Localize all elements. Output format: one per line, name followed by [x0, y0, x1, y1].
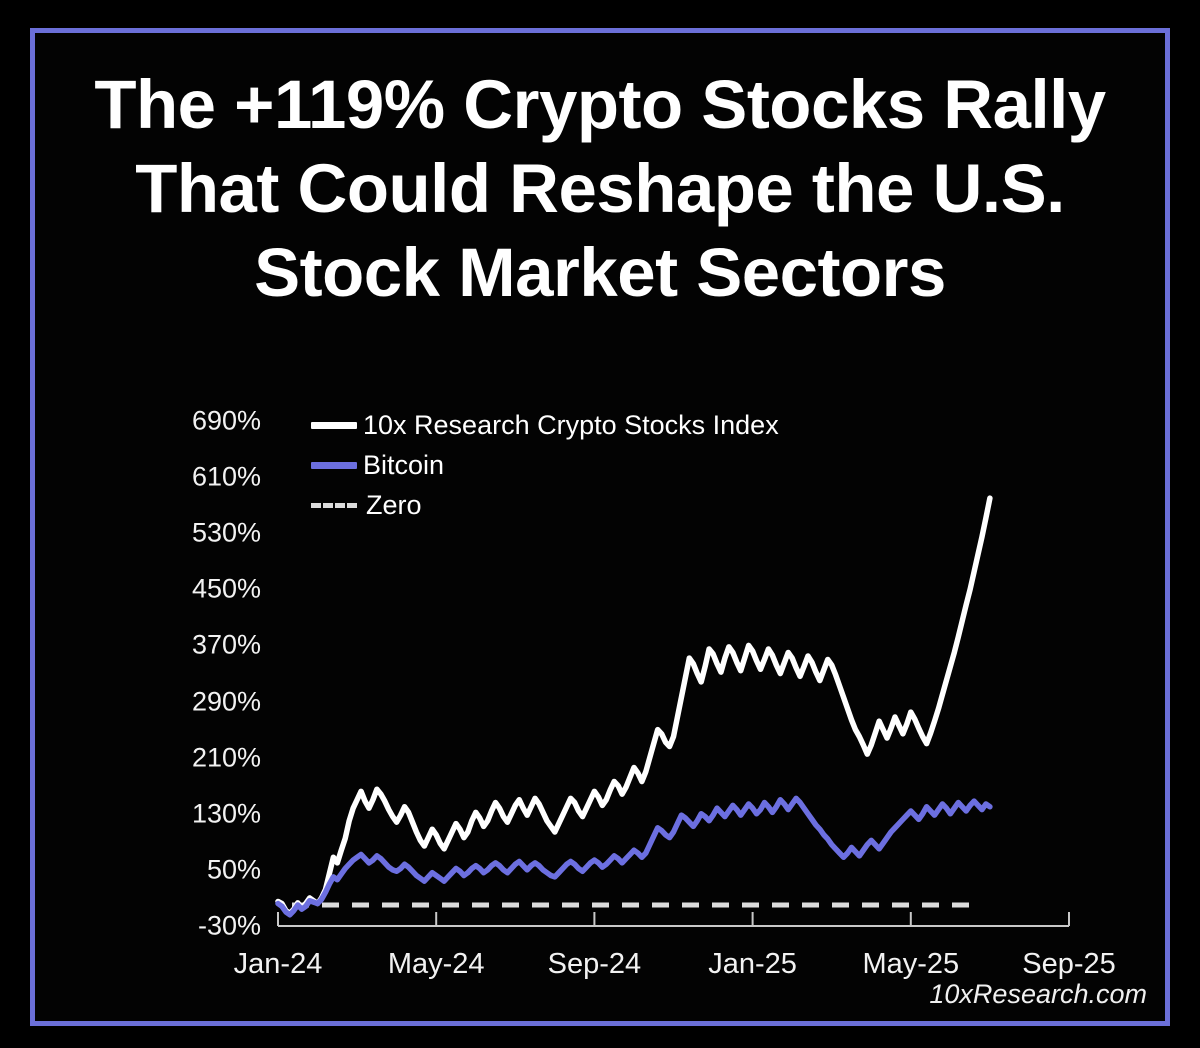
- title-line-3: Stock Market Sectors: [63, 231, 1137, 315]
- x-axis-tick-label: May-24: [388, 948, 485, 981]
- legend-item-bitcoin: Bitcoin: [311, 445, 779, 485]
- legend-label-zero: Zero: [366, 490, 422, 521]
- x-axis-tick-label: May-25: [862, 948, 959, 981]
- x-axis-tick-label: Sep-25: [1022, 948, 1116, 981]
- poster-root: The +119% Crypto Stocks Rally That Could…: [0, 0, 1200, 1048]
- legend-item-index: 10x Research Crypto Stocks Index: [311, 405, 779, 445]
- legend-item-zero: Zero: [311, 485, 779, 525]
- legend-swatch-bitcoin-icon: [311, 462, 357, 469]
- legend-swatch-zero-icon: [311, 503, 357, 508]
- chart-container: 690%610%530%450%370%290%210%130%50%-30% …: [35, 333, 1200, 1033]
- x-axis-tick-label: Jan-25: [708, 948, 797, 981]
- legend-swatch-index-icon: [311, 422, 357, 429]
- page-title: The +119% Crypto Stocks Rally That Could…: [35, 63, 1165, 315]
- title-line-1: The +119% Crypto Stocks Rally: [63, 63, 1137, 147]
- x-axis-tick-label: Sep-24: [548, 948, 642, 981]
- legend-label-bitcoin: Bitcoin: [363, 450, 444, 481]
- poster-frame: The +119% Crypto Stocks Rally That Could…: [30, 28, 1170, 1026]
- title-line-2: That Could Reshape the U.S.: [63, 147, 1137, 231]
- x-axis-tick-label: Jan-24: [234, 948, 323, 981]
- watermark-label: 10xResearch.com: [929, 979, 1147, 1010]
- chart-legend: 10x Research Crypto Stocks Index Bitcoin…: [311, 405, 779, 525]
- legend-label-index: 10x Research Crypto Stocks Index: [363, 410, 779, 441]
